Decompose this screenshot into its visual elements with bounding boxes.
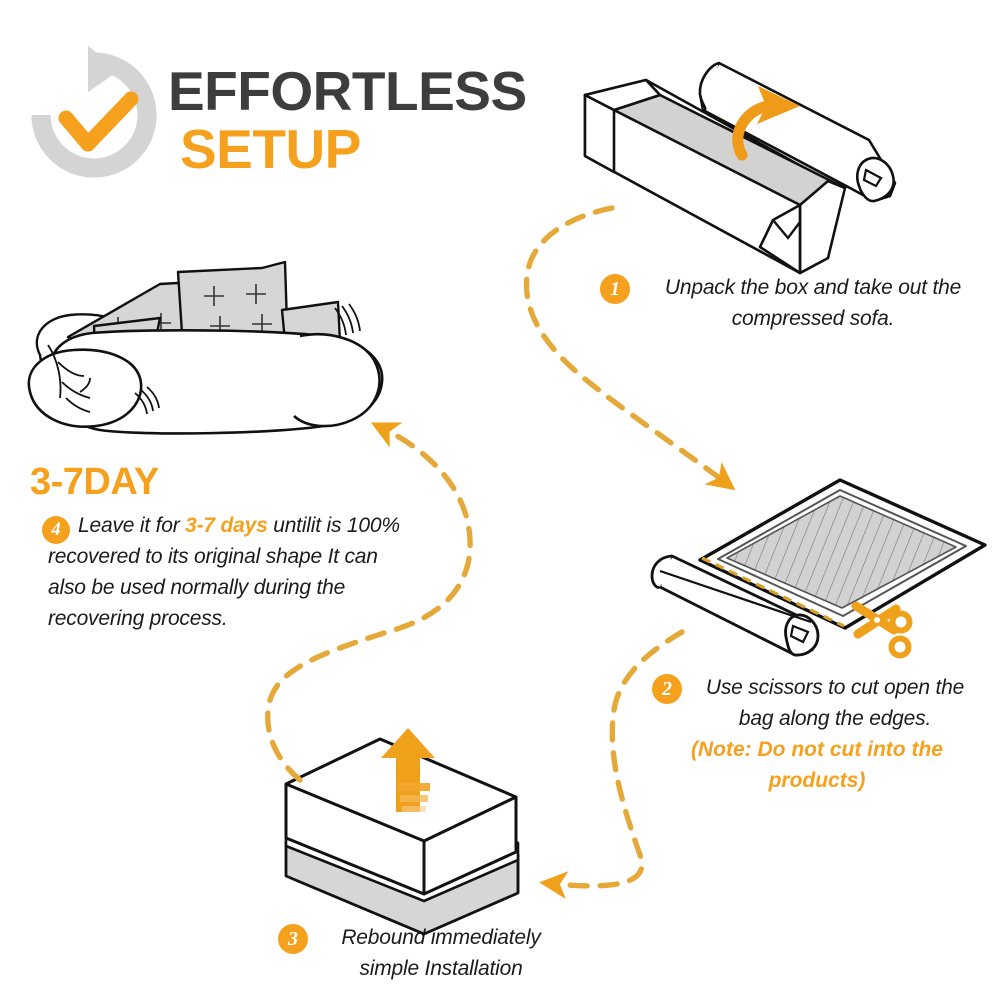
page-title: EFFORTLESS SETUP	[168, 62, 548, 178]
step-2-text: Use scissors to cut open the bag along t…	[688, 672, 982, 734]
title-main: EFFORTLESS	[168, 62, 548, 120]
step-1: 1 Unpack the box and take out the compre…	[600, 272, 990, 334]
step-4-heading: 3-7DAY	[30, 460, 420, 504]
recovered-sofa	[29, 262, 382, 433]
compressed-block-expanding	[286, 728, 518, 934]
title-sub: SETUP	[180, 120, 548, 178]
step-4-text-part1: Leave it for	[78, 514, 185, 537]
step-1-badge: 1	[600, 274, 630, 304]
logo-placeholder	[28, 56, 160, 188]
step-4: 3-7DAY 4 Leave it for 3-7 days untilit i…	[30, 460, 420, 634]
infographic-canvas: EFFORTLESS SETUP 1 Unpack the box and ta…	[0, 0, 1000, 1000]
step-3-text: Rebound immediately simple Installation	[314, 922, 568, 984]
step-4-badge: 4	[42, 516, 70, 544]
cardboard-box-with-rolled-sofa	[585, 63, 895, 273]
step-2-note: (Note: Do not cut into the products)	[652, 734, 982, 796]
header: EFFORTLESS SETUP	[28, 52, 548, 192]
step-3: 3 Rebound immediately simple Installatio…	[278, 922, 568, 984]
dashed-arrow-box-to-bag	[527, 208, 722, 480]
scissors-icon	[856, 606, 910, 656]
step-2-badge: 2	[652, 674, 682, 704]
step-4-highlight: 3-7 days	[185, 514, 267, 537]
step-2: 2 Use scissors to cut open the bag along…	[652, 672, 982, 796]
step-3-badge: 3	[278, 924, 308, 954]
vacuum-bag-with-scissors	[652, 474, 985, 656]
step-4-text: Leave it for 3-7 days untilit is 100% re…	[48, 510, 408, 634]
step-1-text: Unpack the box and take out the compress…	[636, 272, 990, 334]
